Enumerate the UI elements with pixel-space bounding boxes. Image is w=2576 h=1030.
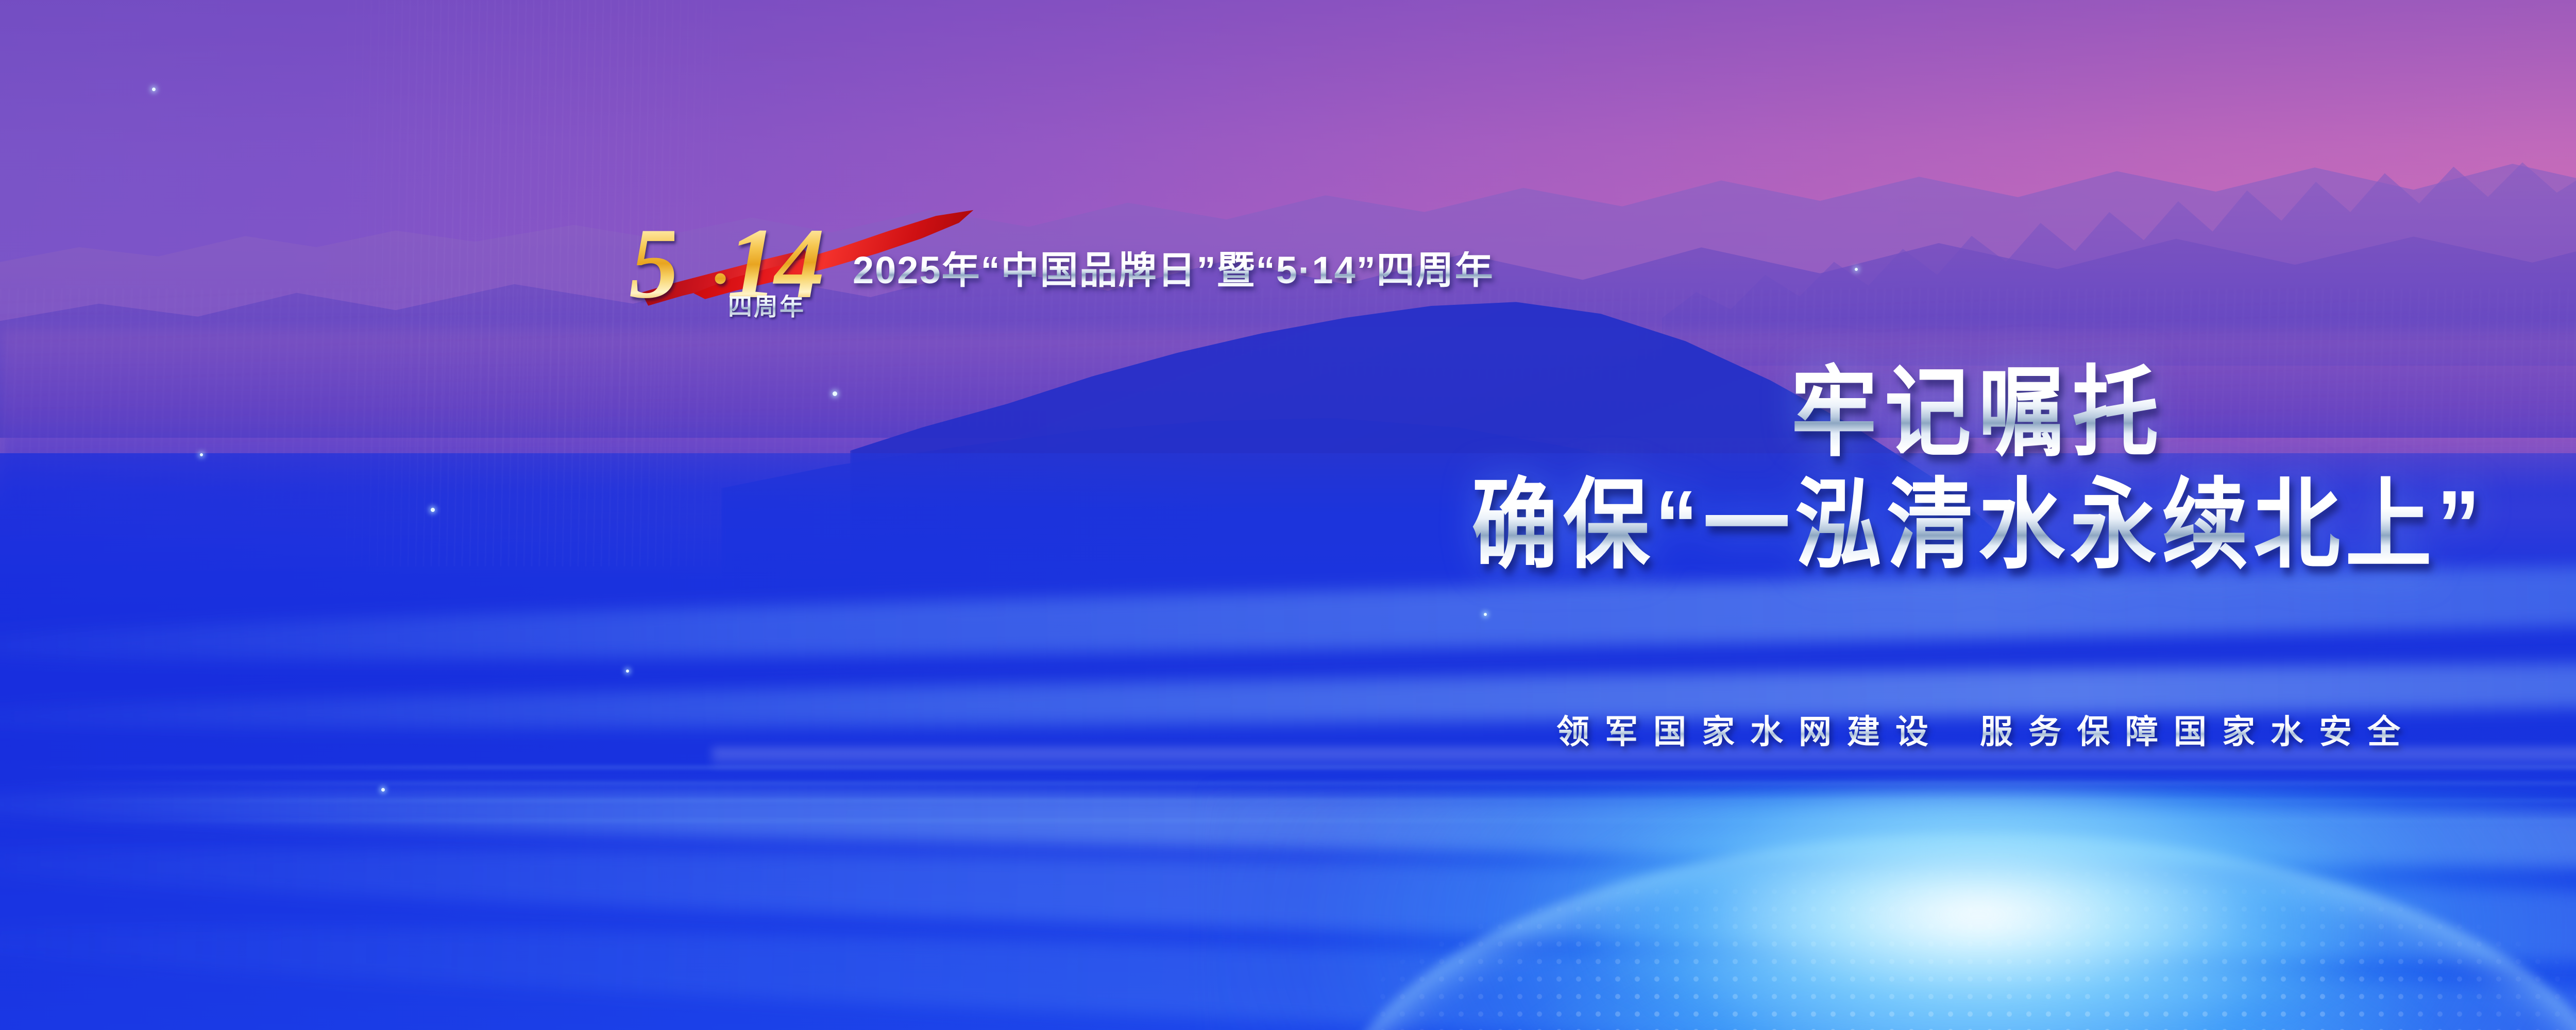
subtitle-part-2: 服务保障国家水安全 [1980, 713, 2416, 750]
headline-line-1: 牢记嘱托 [0, 360, 2576, 465]
headline-line-2: 确保“一泓清水永续北上” [0, 473, 2576, 577]
logo-digit-month: 5 [629, 213, 674, 314]
logo-514: 5 · 14 四周年 [626, 202, 832, 323]
subtitle-block: 领军国家水网建设服务保障国家水安全 [0, 706, 2576, 753]
subtitle-reflection [712, 748, 2576, 770]
anniversary-lockup: 5 · 14 四周年 2025年“中国品牌日”暨“5·14”四周年 [626, 202, 1708, 325]
logo-anniversary-label: 四周年 [728, 295, 805, 319]
event-title: 2025年“中国品牌日”暨“5·14”四周年 [853, 251, 1494, 289]
subtitle-part-1: 领军国家水网建设 [1556, 713, 1944, 750]
banner-backdrop: 5 · 14 四周年 2025年“中国品牌日”暨“5·14”四周年 [0, 0, 2576, 1030]
headline-block: 牢记嘱托 确保“一泓清水永续北上” [0, 360, 2576, 564]
logo-separator-dot: · [711, 245, 728, 312]
